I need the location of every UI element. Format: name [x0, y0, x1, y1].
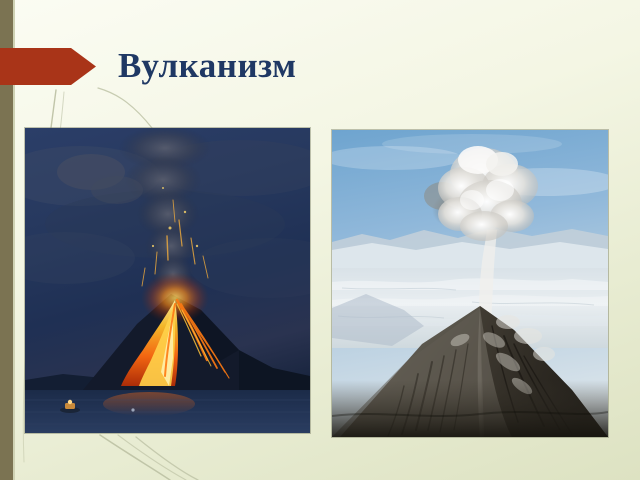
photo-right-snow-volcano — [332, 130, 608, 437]
page-title: Вулканизм — [118, 40, 558, 92]
slide: Вулканизм — [0, 0, 640, 480]
photo-left-volcano-eruption — [25, 128, 310, 433]
arrow-banner — [0, 48, 96, 85]
photo-right-artwork — [332, 130, 608, 437]
photo-left-artwork — [25, 128, 310, 433]
